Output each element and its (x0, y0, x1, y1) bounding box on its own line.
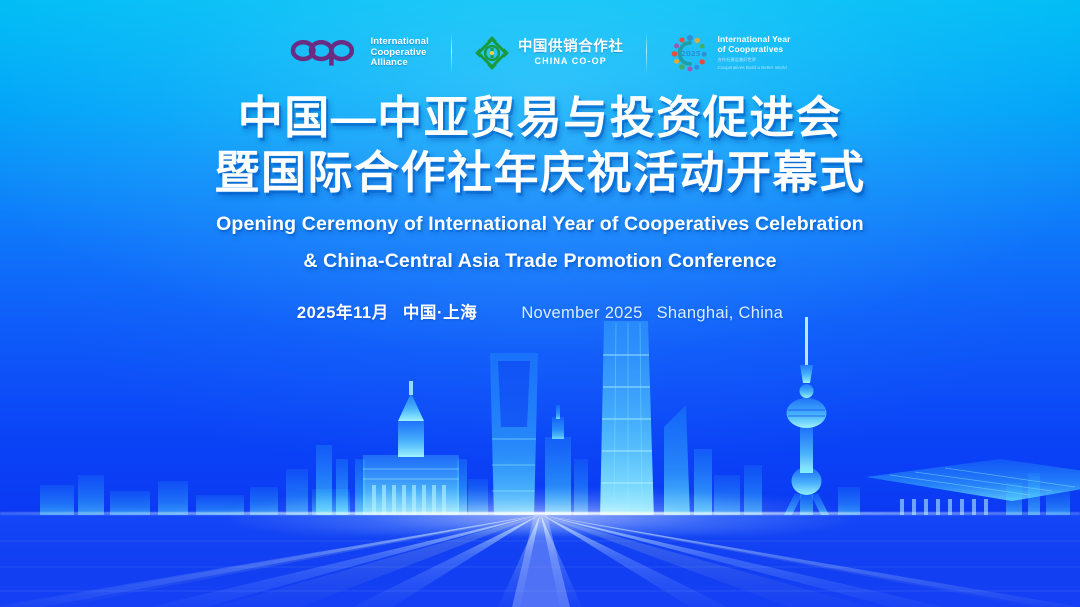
event-date-en: November 2025 (521, 302, 642, 324)
title-en-line-1: Opening Ceremony of International Year o… (0, 211, 1080, 237)
title-cn-line-1: 中国—中亚贸易与投资促进会 (0, 90, 1080, 145)
shanghai-skyline (0, 309, 1080, 519)
china-coop-name-cn: 中国供销合作社 (518, 39, 624, 55)
title-cn-line-2: 暨国际合作社年庆祝活动开幕式 (0, 145, 1080, 200)
event-date-cn: 2025年11月 (297, 302, 389, 324)
event-info-line: 2025年11月 中国·上海 November 2025 Shanghai, C… (0, 302, 1080, 324)
china-coop-name: 中国供销合作社 CHINA CO-OP (518, 39, 624, 67)
china-coop-logo-icon (474, 35, 510, 71)
iyc-tagline-cn: 合作社建设美好世界 (718, 57, 791, 62)
logo-bar: International Cooperative Alliance (0, 22, 1080, 84)
title-en-line-2: & China-Central Asia Trade Promotion Con… (0, 248, 1080, 274)
international-year-cooperatives-logo-icon: 2025 (669, 32, 711, 74)
iyc-name: International Year of Cooperatives 合作社建设… (718, 35, 791, 71)
horizon-line (0, 512, 1080, 515)
iyc-tagline-en: Cooperatives Build a Better World (718, 65, 791, 71)
expo-center (866, 459, 1080, 519)
iyc-line-2: of Cooperatives (718, 45, 791, 55)
logo-ica: International Cooperative Alliance (268, 27, 451, 79)
logo-china-coop: 中国供销合作社 CHINA CO-OP (452, 27, 646, 79)
title-block: 中国—中亚贸易与投资促进会 暨国际合作社年庆祝活动开幕式 Opening Cer… (0, 90, 1080, 324)
event-location-en: Shanghai, China (657, 302, 784, 324)
svg-text:2025: 2025 (680, 49, 700, 58)
ica-name: International Cooperative Alliance (371, 37, 429, 69)
event-poster: International Cooperative Alliance (0, 0, 1080, 607)
logo-iyc: 2025 International Year of Cooperatives … (647, 27, 813, 79)
ica-line-3: Alliance (371, 58, 429, 69)
china-coop-name-en: CHINA CO-OP (535, 56, 607, 67)
event-location-cn: 中国·上海 (403, 302, 478, 324)
coop-logo-icon (290, 38, 362, 68)
